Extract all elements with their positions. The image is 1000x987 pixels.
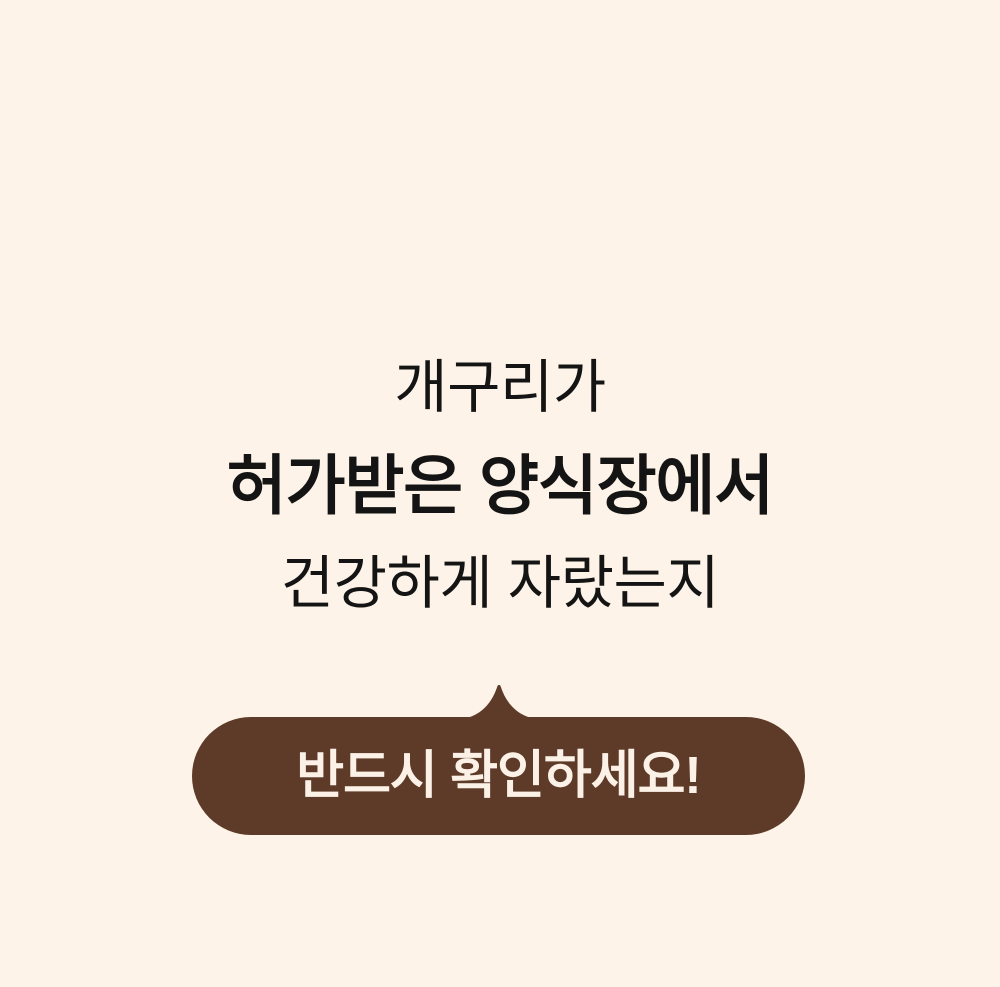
promo-card: 개구리가 허가받은 양식장에서 건강하게 자랐는지 반드시 확인하세요! — [0, 0, 1000, 987]
headline-line-1: 개구리가 — [0, 340, 1000, 436]
headline-block: 개구리가 허가받은 양식장에서 건강하게 자랐는지 — [0, 340, 1000, 632]
callout-badge-label: 반드시 확인하세요! — [296, 750, 700, 802]
headline-line-2-emphasis: 허가받은 양식장에서 — [0, 436, 1000, 536]
speech-tail-spike-icon — [451, 684, 547, 720]
callout-badge[interactable]: 반드시 확인하세요! — [192, 717, 805, 835]
headline-line-3: 건강하게 자랐는지 — [0, 536, 1000, 632]
